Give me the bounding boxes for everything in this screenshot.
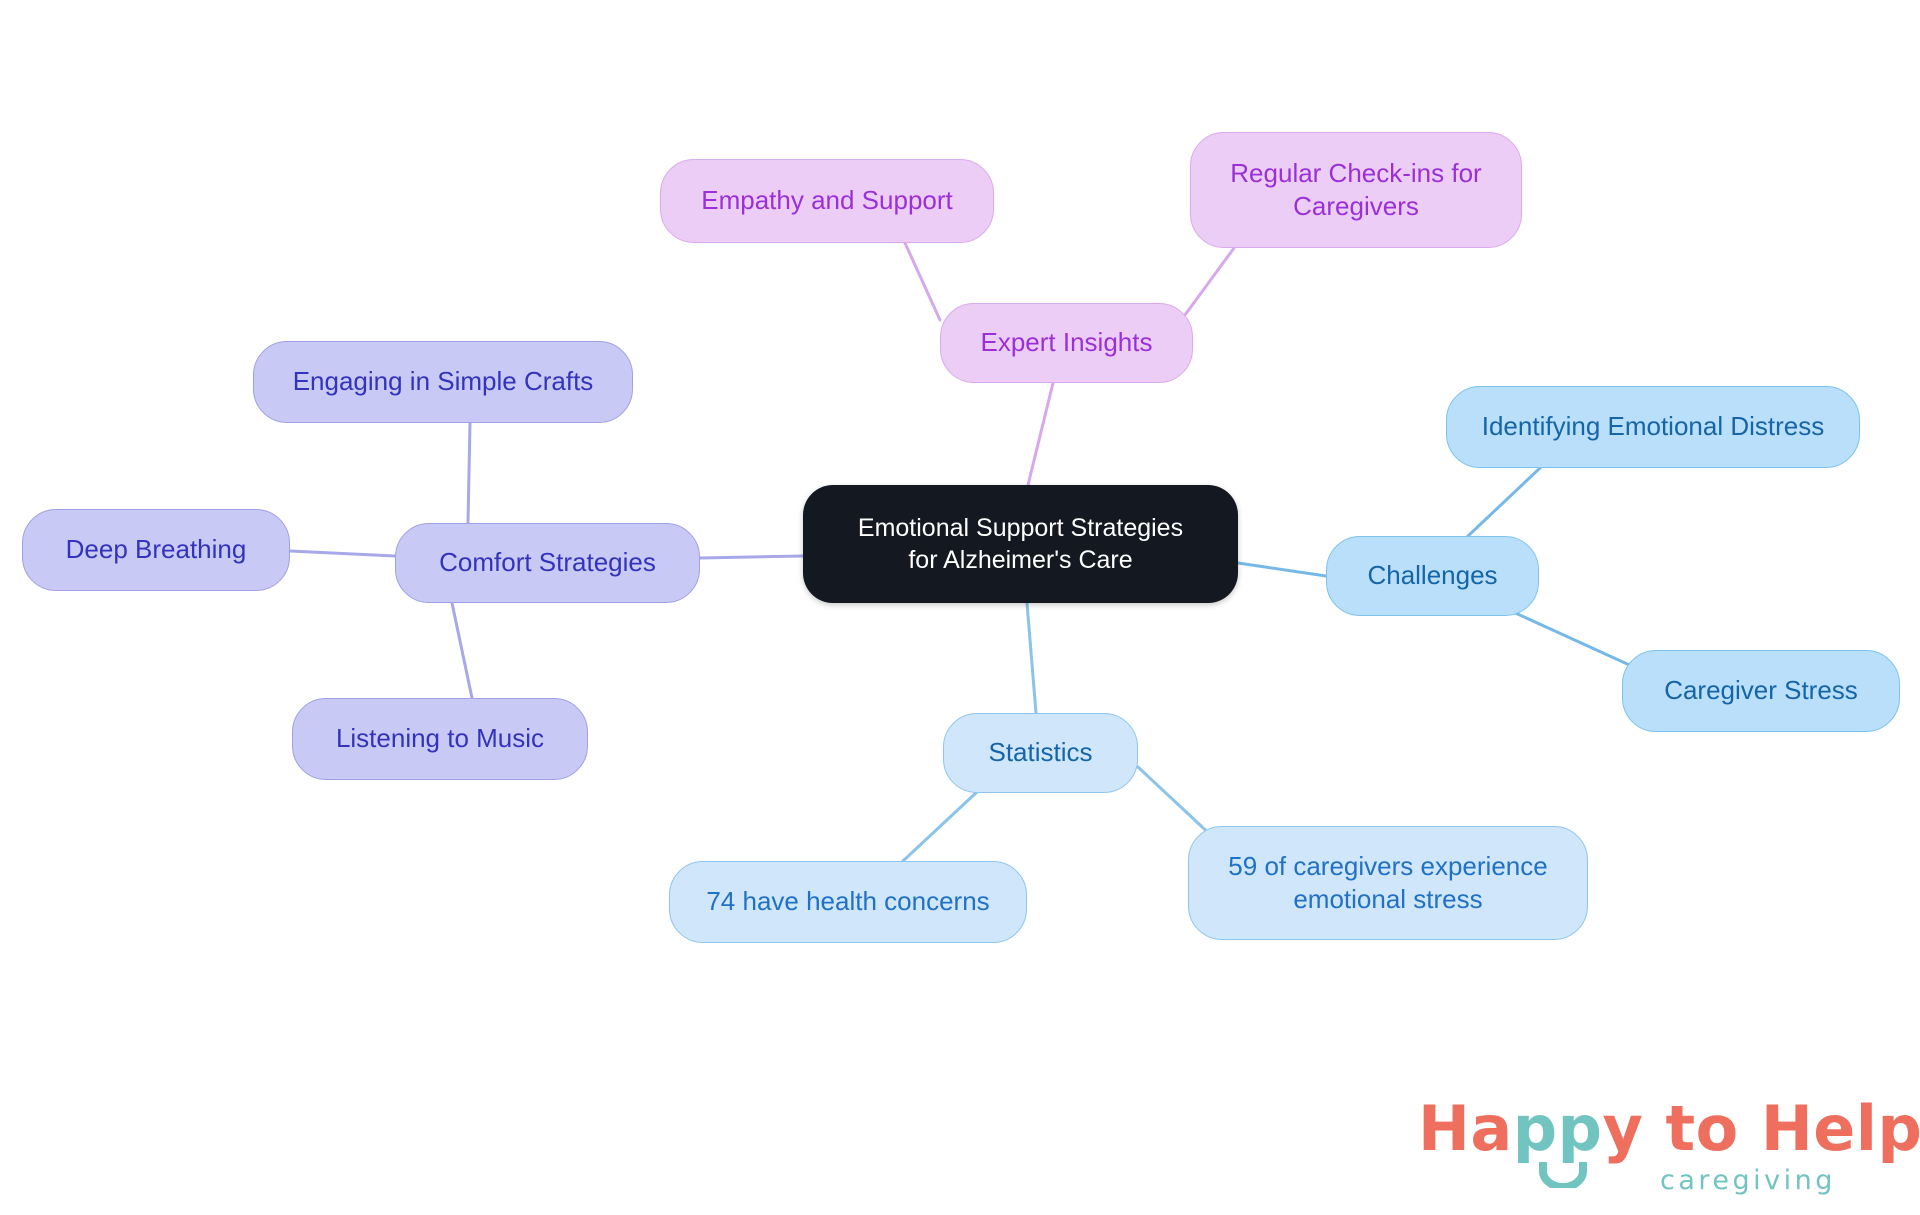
edge-root-expert [1028,383,1053,485]
logo-tagline: caregiving [1660,1167,1836,1194]
node-statistics[interactable]: Statistics [943,713,1138,793]
edge-challenges-stress [1500,606,1636,668]
mindmap-canvas: Emotional Support Strategies for Alzheim… [0,0,1920,1215]
edge-statistics-59 [1138,767,1214,838]
edge-challenges-distress [1468,468,1540,536]
logo-wordmark: Happy to Help [1418,1098,1920,1160]
edge-comfort-deep-breathing [290,551,395,556]
node-empathy-and-support[interactable]: Empathy and Support [660,159,994,243]
edge-root-statistics [1027,603,1036,713]
logo-part-2: y to Help [1603,1092,1920,1165]
node-identifying-emotional-distress[interactable]: Identifying Emotional Distress [1446,386,1860,468]
edge-comfort-crafts [468,423,470,523]
node-comfort-strategies[interactable]: Comfort Strategies [395,523,700,603]
node-regular-check-ins-for-caregivers[interactable]: Regular Check-ins for Caregivers [1190,132,1522,248]
node-74-have-health-concerns[interactable]: 74 have health concerns [669,861,1027,943]
brand-logo: Happy to Help caregiving [1418,1098,1888,1204]
smile-icon [1538,1160,1588,1188]
node-root[interactable]: Emotional Support Strategies for Alzheim… [803,485,1238,603]
edge-comfort-music [452,603,472,698]
edge-root-comfort [700,556,803,558]
node-challenges[interactable]: Challenges [1326,536,1539,616]
node-caregiver-stress[interactable]: Caregiver Stress [1622,650,1900,732]
node-engaging-in-simple-crafts[interactable]: Engaging in Simple Crafts [253,341,633,423]
node-deep-breathing[interactable]: Deep Breathing [22,509,290,591]
edge-expert-empathy [905,243,940,320]
logo-part-1: Ha [1418,1092,1513,1165]
edge-expert-checkins [1185,248,1234,315]
node-listening-to-music[interactable]: Listening to Music [292,698,588,780]
edge-statistics-74 [903,791,978,861]
node-59-of-caregivers-experience-emotional-stress[interactable]: 59 of caregivers experience emotional st… [1188,826,1588,940]
logo-part-highlight: pp [1513,1092,1603,1165]
node-expert-insights[interactable]: Expert Insights [940,303,1193,383]
edge-root-challenges [1238,563,1326,576]
